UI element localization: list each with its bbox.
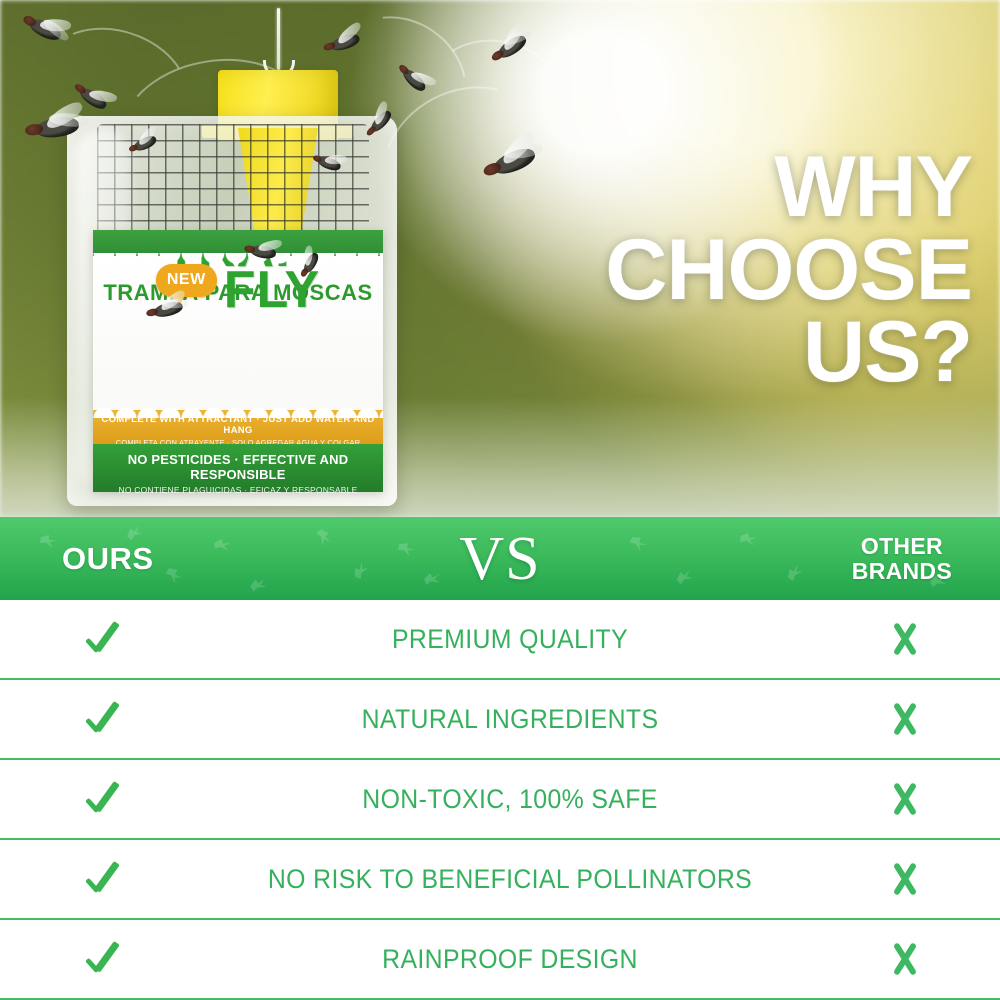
table-row: PREMIUM QUALITY <box>0 600 1000 680</box>
ours-cell <box>0 617 210 661</box>
table-row: NATURAL INGREDIENTS <box>0 680 1000 760</box>
cross-icon <box>885 939 925 979</box>
other-brands-cell <box>810 779 1000 819</box>
checkmark-icon <box>83 617 127 661</box>
comparison-table: PREMIUM QUALITY NATURAL INGREDIENTS NON-… <box>0 600 1000 1000</box>
product-label: NEWFLY TRAP TRAMPA PARA MOSCAS COMPLETE … <box>93 230 383 492</box>
comparison-header-band: OURS VS OTHER BRANDS <box>0 517 1000 600</box>
other-brands-cell <box>810 619 1000 659</box>
table-row: RAINPROOF DESIGN <box>0 920 1000 1000</box>
other-brands-cell <box>810 699 1000 739</box>
no-pesticides-text-es: NO CONTIENE PLAGUICIDAS · EFICAZ Y RESPO… <box>93 485 383 495</box>
feature-label: PREMIUM QUALITY <box>234 624 786 655</box>
headline-line-3: US? <box>452 311 972 394</box>
ours-cell <box>0 697 210 741</box>
feature-label: NON-TOXIC, 100% SAFE <box>234 784 786 815</box>
checkmark-icon <box>83 937 127 981</box>
infographic-canvas: NEWFLY TRAP TRAMPA PARA MOSCAS COMPLETE … <box>0 0 1000 1000</box>
label-green-band: NO PESTICIDES · EFFECTIVE AND RESPONSIBL… <box>93 444 383 492</box>
feature-label: RAINPROOF DESIGN <box>234 944 786 975</box>
new-badge: NEW <box>156 264 217 297</box>
cross-icon <box>885 859 925 899</box>
no-pesticides-text-en: NO PESTICIDES · EFFECTIVE AND RESPONSIBL… <box>93 452 383 482</box>
ours-cell <box>0 777 210 821</box>
label-top-green-band <box>93 230 383 256</box>
ours-cell <box>0 857 210 901</box>
hero-section: NEWFLY TRAP TRAMPA PARA MOSCAS COMPLETE … <box>0 0 1000 517</box>
other-brands-line2: BRANDS <box>852 559 952 584</box>
headline-line-2: CHOOSE <box>452 229 972 312</box>
cross-icon <box>885 699 925 739</box>
checkmark-icon <box>83 697 127 741</box>
checkmark-icon <box>83 857 127 901</box>
label-wave-divider <box>93 402 383 418</box>
ours-cell <box>0 937 210 981</box>
other-brands-cell <box>810 859 1000 899</box>
feature-label: NATURAL INGREDIENTS <box>234 704 786 735</box>
table-row: NO RISK TO BENEFICIAL POLLINATORS <box>0 840 1000 920</box>
page-title: WHY CHOOSE US? <box>452 146 972 394</box>
column-header-vs: VS <box>0 517 1000 600</box>
other-brands-line1: OTHER <box>861 534 943 559</box>
fly-trap-product: NEWFLY TRAP TRAMPA PARA MOSCAS COMPLETE … <box>45 8 425 508</box>
checkmark-icon <box>83 777 127 821</box>
cross-icon <box>885 779 925 819</box>
table-row: NON-TOXIC, 100% SAFE <box>0 760 1000 840</box>
other-brands-cell <box>810 939 1000 979</box>
feature-label: NO RISK TO BENEFICIAL POLLINATORS <box>234 864 786 895</box>
headline-line-1: WHY <box>452 146 972 229</box>
cross-icon <box>885 619 925 659</box>
column-header-other-brands: OTHER BRANDS <box>852 517 952 600</box>
label-brand-row: NEWFLY <box>93 260 383 320</box>
